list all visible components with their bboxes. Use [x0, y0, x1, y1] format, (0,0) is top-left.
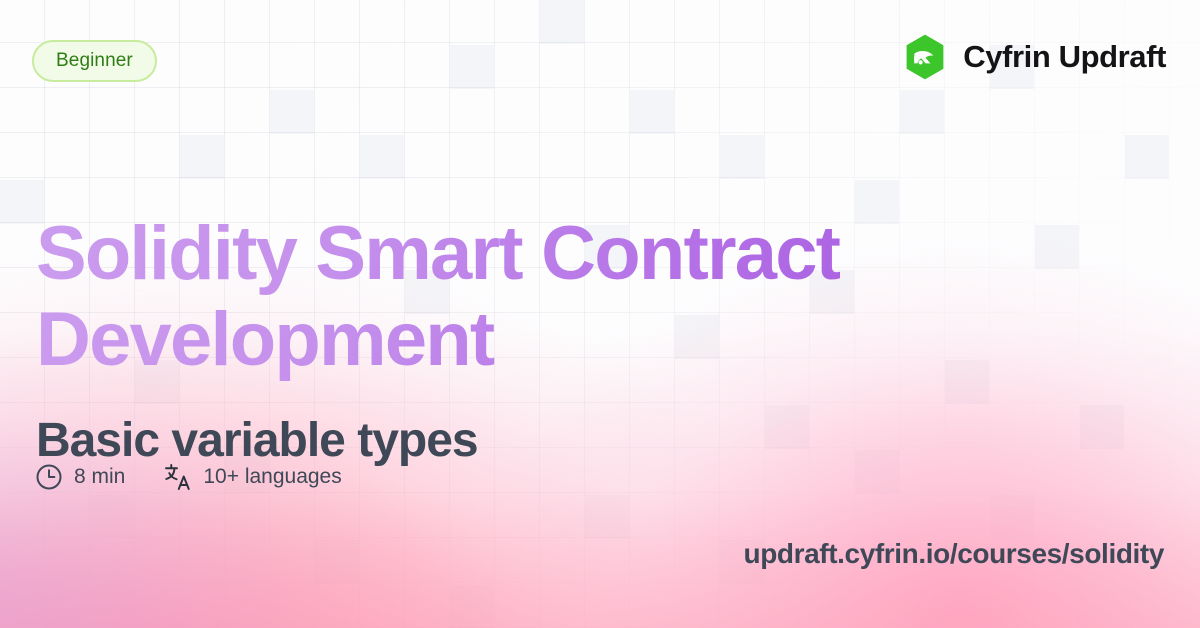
course-title: Solidity Smart Contract Development	[36, 211, 1086, 383]
site-url: updraft.cyfrin.io/courses/solidity	[744, 538, 1164, 570]
meta-duration-label: 8 min	[74, 465, 125, 489]
meta-languages-label: 10+ languages	[203, 465, 341, 489]
translate-icon	[163, 462, 193, 492]
clock-icon	[34, 462, 64, 492]
course-share-card: Beginner Cyfrin Updraft Solidity Smart C…	[0, 0, 1200, 628]
difficulty-badge: Beginner	[32, 40, 157, 82]
cyfrin-hexagon-logo-icon	[900, 32, 950, 82]
meta-languages: 10+ languages	[163, 462, 341, 492]
card-content: Beginner Cyfrin Updraft Solidity Smart C…	[0, 0, 1200, 628]
meta-duration: 8 min	[34, 462, 125, 492]
brand-name: Cyfrin Updraft	[963, 39, 1166, 75]
lesson-meta: 8 min 10+ languages	[34, 462, 342, 492]
brand-lockup: Cyfrin Updraft	[900, 32, 1166, 82]
